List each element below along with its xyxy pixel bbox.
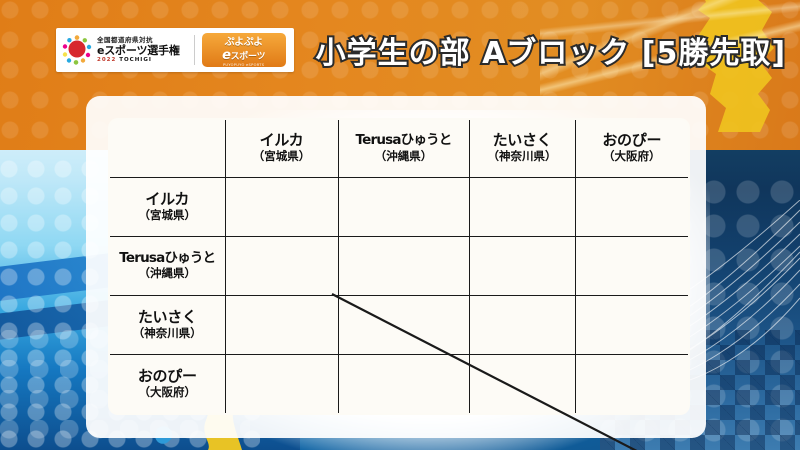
- result-cell-3-1[interactable]: [338, 355, 469, 414]
- championship-logo-text: 全国都道府県対抗 eスポーツ選手権 2022 TOCHIGI: [97, 37, 180, 64]
- table-row: イルカ （宮城県）: [109, 177, 689, 236]
- row-header-3: おのぴー （大阪府）: [109, 355, 225, 414]
- bracket-table-container: イルカ （宮城県） Terusaひゅうと （沖縄県） たいさく （神奈川県） お…: [108, 118, 688, 415]
- puyo-logo-top: ぷよぷよ: [225, 33, 263, 48]
- table-corner-cell: [109, 119, 225, 177]
- result-cell-0-2[interactable]: [469, 177, 575, 236]
- row-header-0: イルカ （宮城県）: [109, 177, 225, 236]
- championship-logo-year-place: 2022 TOCHIGI: [97, 58, 180, 64]
- row-header-prefecture-1: （沖縄県）: [112, 267, 223, 281]
- column-header-name-3: おのぴー: [578, 132, 687, 149]
- japan-flag-people-icon: [62, 35, 92, 65]
- column-header-prefecture-2: （神奈川県）: [472, 150, 573, 164]
- column-header-prefecture-0: （宮城県）: [228, 150, 336, 164]
- row-header-name-2: たいさく: [112, 309, 223, 326]
- column-header-name-1: Terusaひゅうと: [341, 133, 467, 149]
- result-cell-0-0[interactable]: [225, 177, 338, 236]
- result-cell-1-0[interactable]: [225, 236, 338, 295]
- championship-logo-line1: 全国都道府県対抗: [97, 37, 180, 44]
- column-header-3: おのぴー （大阪府）: [575, 119, 689, 177]
- result-cell-2-3[interactable]: [575, 296, 689, 355]
- row-header-1: Terusaひゅうと （沖縄県）: [109, 236, 225, 295]
- slide-stage: 全国都道府県対抗 eスポーツ選手権 2022 TOCHIGI ぷよぷよ eスポー…: [0, 0, 800, 450]
- row-header-2: たいさく （神奈川県）: [109, 296, 225, 355]
- result-cell-3-0[interactable]: [225, 355, 338, 414]
- result-cell-0-1[interactable]: [338, 177, 469, 236]
- column-header-name-0: イルカ: [228, 132, 336, 149]
- table-row: Terusaひゅうと （沖縄県）: [109, 236, 689, 295]
- puyo-logo-e: e: [222, 48, 231, 63]
- championship-logo-line2: eスポーツ選手権: [97, 45, 180, 56]
- puyo-logo-subtitle: PUYOPUYO eSPORTS: [223, 63, 264, 67]
- header-bar: 全国都道府県対抗 eスポーツ選手権 2022 TOCHIGI ぷよぷよ eスポー…: [0, 22, 800, 78]
- result-cell-2-0[interactable]: [225, 296, 338, 355]
- result-cell-0-3[interactable]: [575, 177, 689, 236]
- logo-year: 2022: [97, 57, 116, 63]
- column-header-prefecture-1: （沖縄県）: [341, 150, 467, 164]
- result-cell-3-3[interactable]: [575, 355, 689, 414]
- result-cell-2-1[interactable]: [338, 296, 469, 355]
- row-header-prefecture-3: （大阪府）: [112, 386, 223, 400]
- table-row: おのぴー （大阪府）: [109, 355, 689, 414]
- logo-place: TOCHIGI: [119, 57, 152, 63]
- table-header-row: イルカ （宮城県） Terusaひゅうと （沖縄県） たいさく （神奈川県） お…: [109, 119, 689, 177]
- puyo-logo-bottom: eスポーツ: [222, 48, 265, 63]
- result-cell-1-1[interactable]: [338, 236, 469, 295]
- championship-logo: 全国都道府県対抗 eスポーツ選手権 2022 TOCHIGI: [62, 35, 187, 65]
- column-header-prefecture-3: （大阪府）: [578, 150, 687, 164]
- column-header-1: Terusaひゅうと （沖縄県）: [338, 119, 469, 177]
- table-row: たいさく （神奈川県）: [109, 296, 689, 355]
- page-title: 小学生の部 Aブロック [5勝先取]: [316, 28, 786, 72]
- column-header-0: イルカ （宮城県）: [225, 119, 338, 177]
- result-cell-3-2[interactable]: [469, 355, 575, 414]
- result-cell-1-3[interactable]: [575, 236, 689, 295]
- result-cell-1-2[interactable]: [469, 236, 575, 295]
- column-header-name-2: たいさく: [472, 132, 573, 149]
- puyo-logo-sports: スポーツ: [231, 52, 266, 62]
- row-header-name-1: Terusaひゅうと: [112, 251, 223, 267]
- row-header-name-0: イルカ: [112, 191, 223, 208]
- title-container: 小学生の部 Aブロック [5勝先取]: [316, 28, 786, 72]
- row-header-prefecture-2: （神奈川県）: [112, 327, 223, 341]
- column-header-2: たいさく （神奈川県）: [469, 119, 575, 177]
- result-cell-2-2[interactable]: [469, 296, 575, 355]
- row-header-prefecture-0: （宮城県）: [112, 209, 223, 223]
- logo-divider: [194, 35, 195, 65]
- row-header-name-3: おのぴー: [112, 368, 223, 385]
- puyopuyo-esports-logo: ぷよぷよ eスポーツ PUYOPUYO eSPORTS: [202, 33, 286, 67]
- logo-block: 全国都道府県対抗 eスポーツ選手権 2022 TOCHIGI ぷよぷよ eスポー…: [56, 28, 294, 72]
- round-robin-table: イルカ （宮城県） Terusaひゅうと （沖縄県） たいさく （神奈川県） お…: [108, 118, 690, 415]
